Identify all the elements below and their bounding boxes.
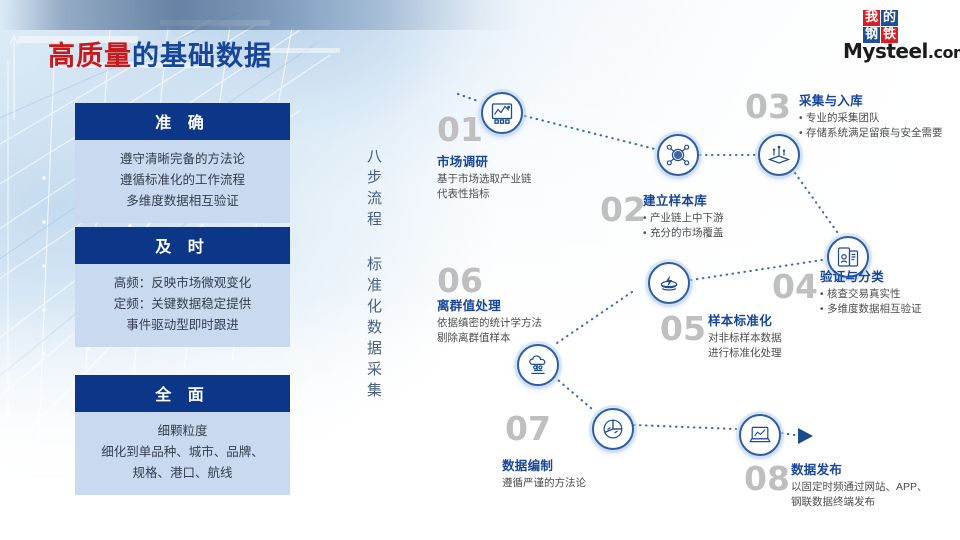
connector-start (458, 94, 478, 101)
step-line: 多维度数据相互验证 (820, 302, 922, 317)
step-line: 专业的采集团队 (799, 111, 943, 126)
step-number-08: 08 (744, 462, 790, 495)
step-line: 产业链上中下游 (643, 211, 724, 226)
step-text-03: 采集与入库 专业的采集团队 存储系统满足留痕与安全需要 (799, 90, 943, 141)
step-line: 依据缜密的统计学方法 (437, 316, 542, 331)
eight-step-flow-diagram: 01 市场调研 基于市场选取产业链 代表性指标 02 建立样本库 产业链上中下游… (0, 0, 960, 540)
connector-05-06 (554, 292, 632, 345)
data-collection-icon (767, 143, 791, 167)
step-node-05[interactable] (648, 262, 690, 304)
step-number-01: 01 (437, 113, 483, 146)
step-text-01: 市场调研 基于市场选取产业链 代表性指标 (437, 151, 532, 202)
step-title-04: 验证与分类 (820, 266, 922, 285)
step-title-03: 采集与入库 (799, 90, 943, 109)
step-line: 钢联数据终端发布 (791, 495, 928, 510)
step-title-07: 数据编制 (502, 455, 586, 474)
network-nodes-icon (666, 143, 690, 167)
step-text-08: 数据发布 以固定时频通过网站、APP、 钢联数据终端发布 (791, 459, 928, 510)
step-title-01: 市场调研 (437, 151, 532, 170)
step-number-07: 07 (505, 412, 551, 445)
step-number-02: 02 (600, 193, 646, 226)
step-line: 遵循严谨的方法论 (502, 476, 586, 491)
step-text-04: 验证与分类 核查交易真实性 多维度数据相互验证 (820, 266, 922, 317)
step-text-02: 建立样本库 产业链上中下游 充分的市场覆盖 (643, 190, 724, 241)
step-node-07[interactable] (592, 408, 634, 450)
connector-07-08 (634, 425, 736, 429)
step-line: 对非标样本数据 (708, 331, 782, 346)
step-text-07: 数据编制 遵循严谨的方法论 (502, 455, 586, 491)
step-text-05: 样本标准化 对非标样本数据 进行标准化处理 (708, 310, 782, 361)
step-line: 代表性指标 (437, 187, 532, 202)
step-number-03: 03 (745, 90, 791, 123)
step-number-06: 06 (437, 264, 483, 297)
step-number-05: 05 (660, 312, 706, 345)
slide-root: 高质量的基础数据 我 的 钢 铁 Mysteel.com 准 确 遵守清晰完备的… (0, 0, 960, 540)
step-line: 进行标准化处理 (708, 346, 782, 361)
step-title-02: 建立样本库 (643, 190, 724, 209)
cloud-filter-icon (526, 353, 550, 377)
step-text-06: 离群值处理 依据缜密的统计学方法 剔除离群值样本 (437, 295, 542, 346)
connector-03-04 (795, 173, 840, 236)
step-line: 充分的市场覆盖 (643, 226, 724, 241)
pie-chart-icon (601, 417, 625, 441)
step-node-06[interactable] (517, 344, 559, 386)
step-node-03[interactable] (758, 134, 800, 176)
step-node-02[interactable] (657, 134, 699, 176)
laptop-chart-icon (748, 423, 772, 447)
connector-01-02 (525, 116, 655, 149)
step-line: 剔除离群值样本 (437, 331, 542, 346)
step-node-01[interactable] (481, 92, 523, 134)
step-node-08[interactable] (739, 414, 781, 456)
step-title-08: 数据发布 (791, 459, 928, 478)
flow-end-arrowhead (798, 428, 813, 444)
standardize-icon (657, 271, 681, 295)
step-title-05: 样本标准化 (708, 310, 782, 329)
presentation-chart-icon (490, 101, 514, 125)
step-line: 以固定时频通过网站、APP、 (791, 480, 928, 495)
step-title-06: 离群值处理 (437, 295, 542, 314)
step-line: 核查交易真实性 (820, 287, 922, 302)
connector-08-arrow (782, 433, 800, 436)
step-number-04: 04 (772, 270, 818, 303)
step-line: 存储系统满足留痕与安全需要 (799, 126, 943, 141)
step-line: 基于市场选取产业链 (437, 172, 532, 187)
